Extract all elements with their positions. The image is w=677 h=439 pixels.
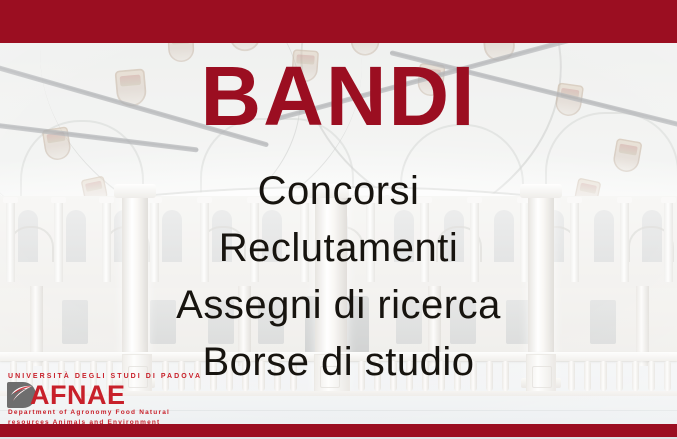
banner-subject-list: Concorsi Reclutamenti Assegni di ricerca… (0, 163, 677, 391)
afnae-logo: UNIVERSITÀ DEGLI STUDI DI PADOVA AFNAE D… (6, 372, 174, 432)
logo-wordmark: AFNAE (6, 382, 174, 408)
top-red-band (0, 0, 677, 43)
logo-acronym: AFNAE (30, 381, 126, 409)
list-item: Reclutamenti (0, 220, 677, 277)
department-name-line1: Department of Agronomy Food Natural (6, 409, 174, 418)
banner-content: BANDI Concorsi Reclutamenti Assegni di r… (0, 43, 677, 424)
list-item: Concorsi (0, 163, 677, 220)
bandi-banner: BANDI Concorsi Reclutamenti Assegni di r… (0, 0, 677, 439)
department-name-line2: resources Animals and Environment (6, 419, 174, 428)
page-title: BANDI (0, 53, 677, 139)
list-item: Assegni di ricerca (0, 277, 677, 334)
